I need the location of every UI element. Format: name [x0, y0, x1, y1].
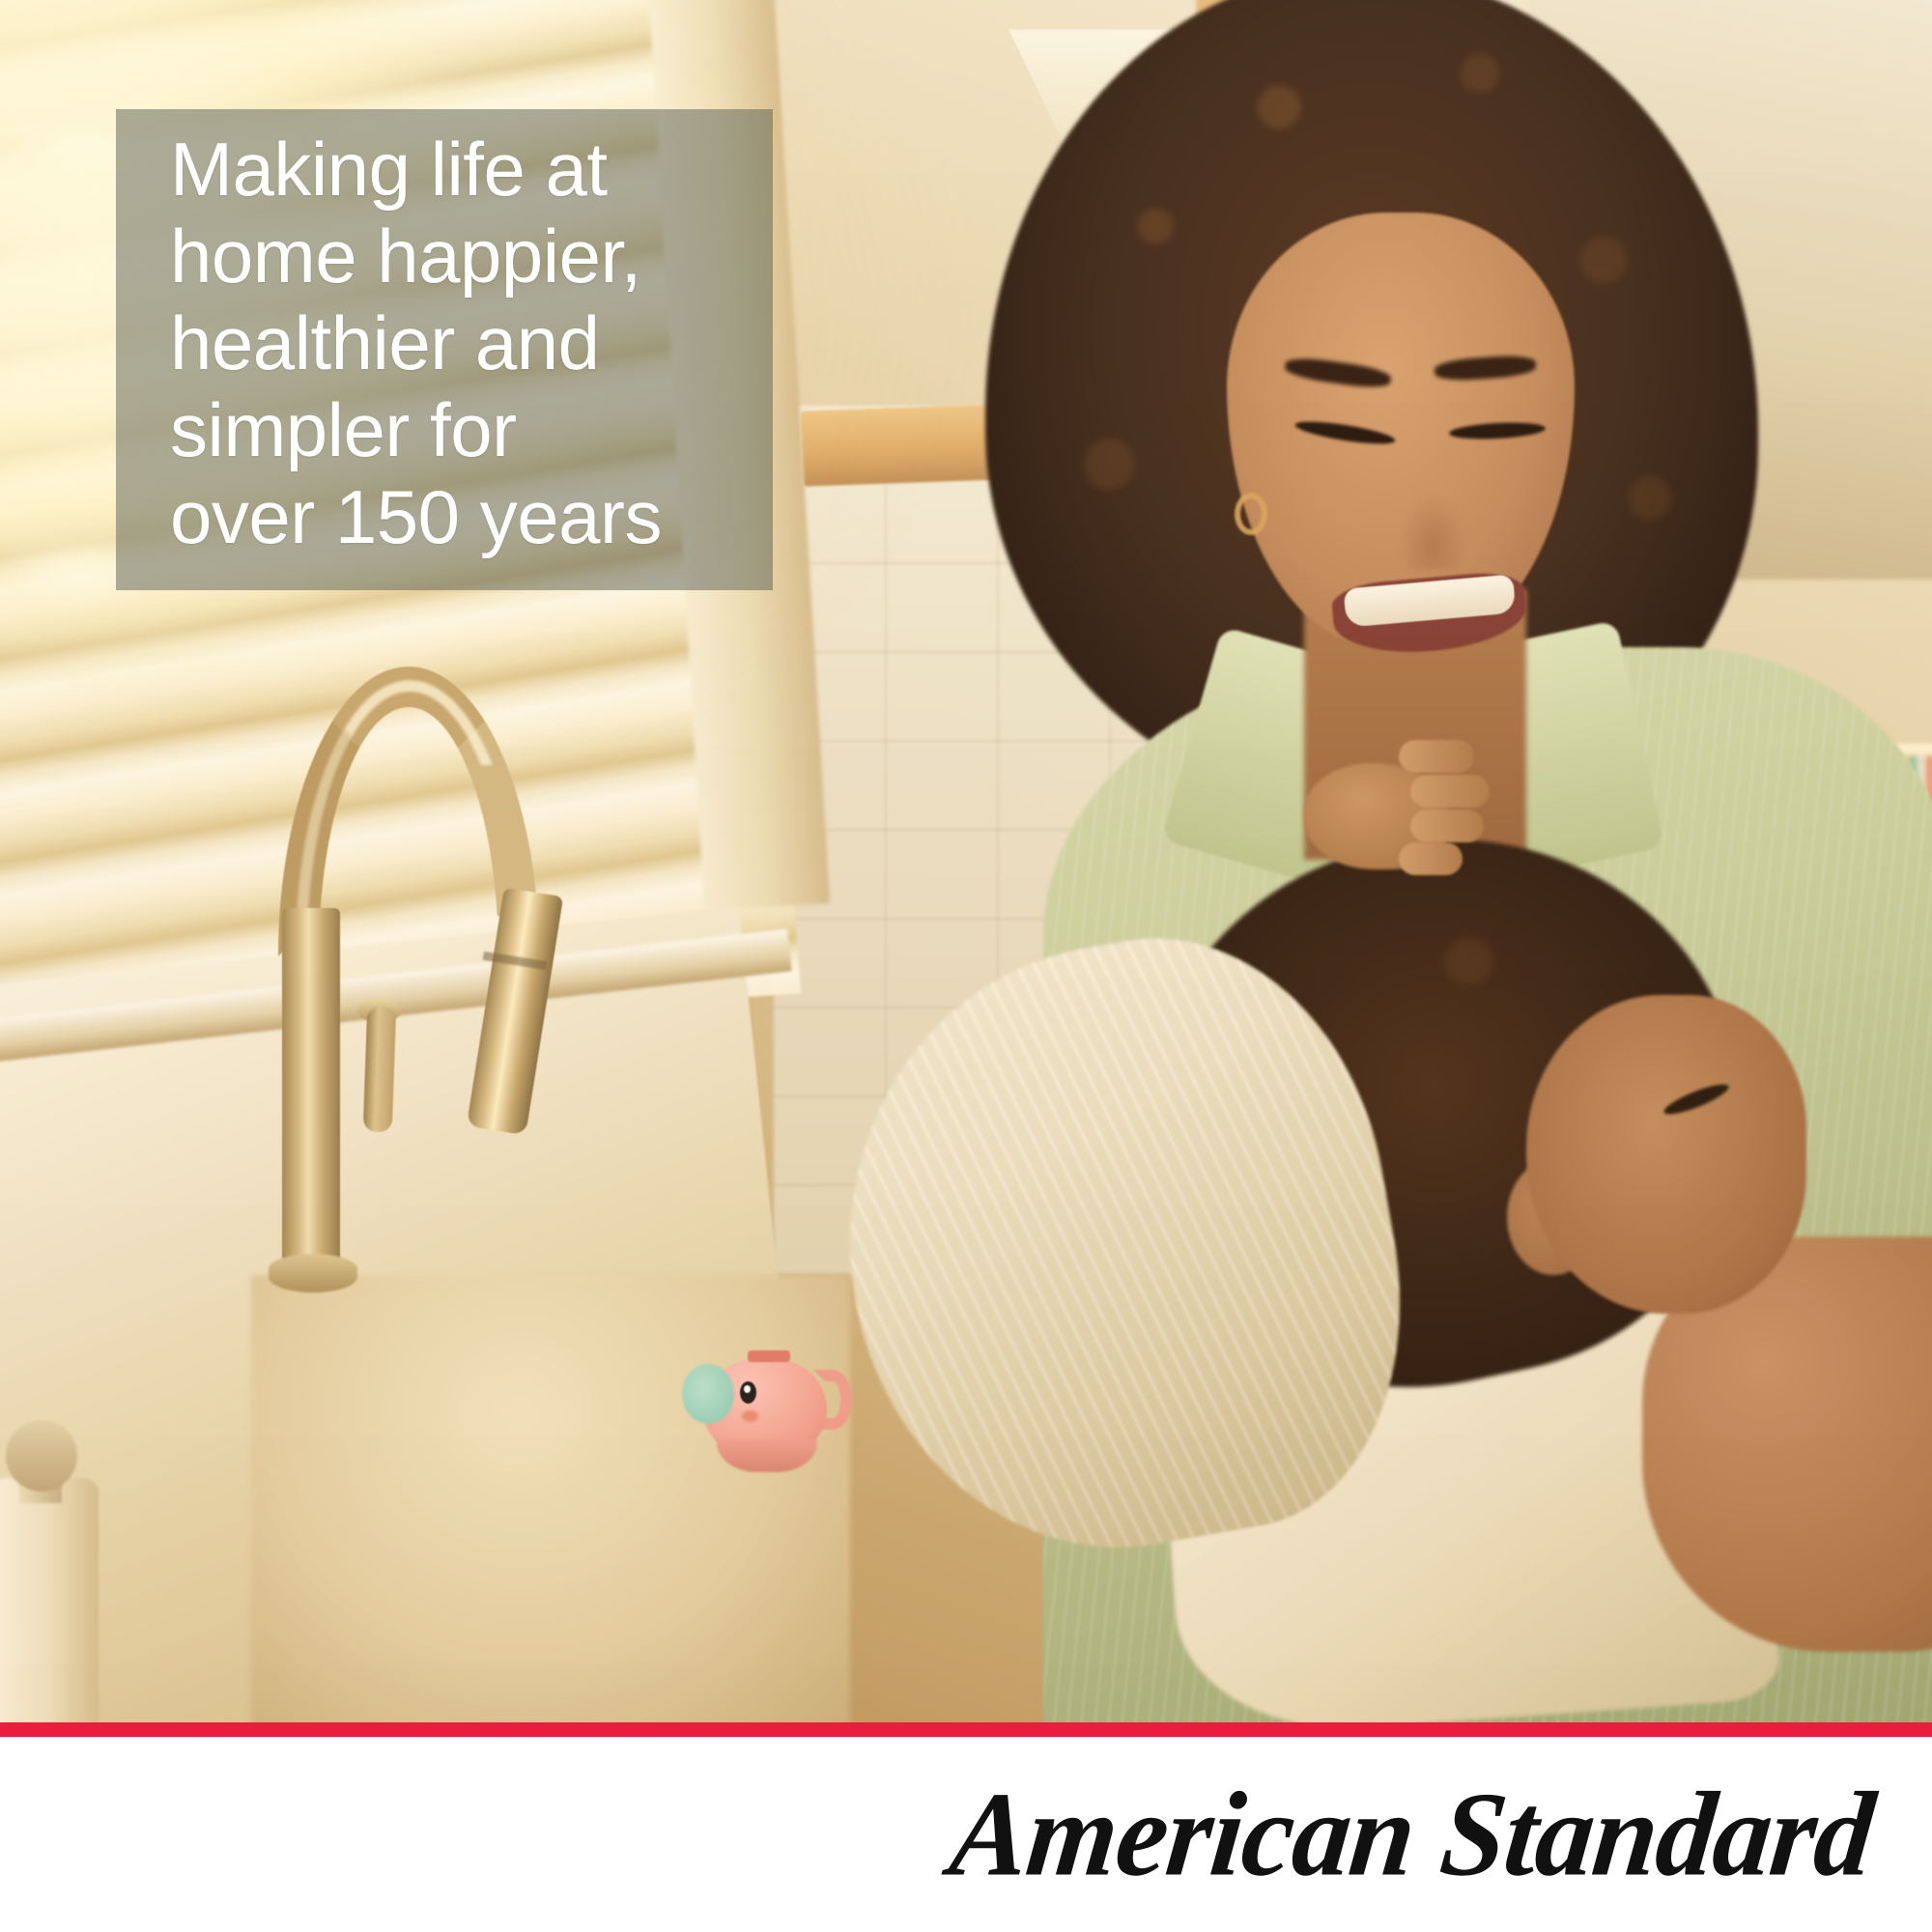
- headline-text: Making life at home happier, healthier a…: [170, 126, 769, 560]
- soap-bottle: [0, 1478, 99, 1722]
- toy-eye: [740, 1381, 756, 1404]
- faucet-base-plate: [269, 1254, 357, 1293]
- woman-nose: [1399, 493, 1466, 570]
- baby-finger: [1399, 842, 1463, 875]
- baby-hand: [1285, 734, 1488, 898]
- baby-finger: [1410, 810, 1484, 842]
- brand-red-divider: [0, 1722, 1932, 1737]
- woman-earring: [1235, 493, 1267, 535]
- hero-photo: Making life at home happier, healthier a…: [0, 0, 1932, 1722]
- soap-dispenser: [0, 1420, 106, 1722]
- baby: [850, 947, 1932, 1722]
- pink-elephant-toy: [676, 1343, 860, 1478]
- faucet-column: [282, 908, 340, 1275]
- toy-ear: [682, 1364, 734, 1424]
- faucet-lever-handle: [363, 1007, 397, 1133]
- kitchen-faucet: [261, 667, 580, 1323]
- soap-pump: [6, 1420, 77, 1492]
- baby-face: [1526, 995, 1806, 1314]
- american-standard-logo[interactable]: American Standard: [944, 1759, 1881, 1910]
- baby-finger: [1410, 775, 1490, 808]
- toy-cheek: [742, 1410, 758, 1422]
- brand-footer: American Standard: [0, 1737, 1932, 1932]
- toy-legs: [717, 1439, 817, 1472]
- baby-finger: [1399, 740, 1474, 773]
- toy-spout: [748, 1350, 790, 1362]
- advertisement-creative: Making life at home happier, healthier a…: [0, 0, 1932, 1932]
